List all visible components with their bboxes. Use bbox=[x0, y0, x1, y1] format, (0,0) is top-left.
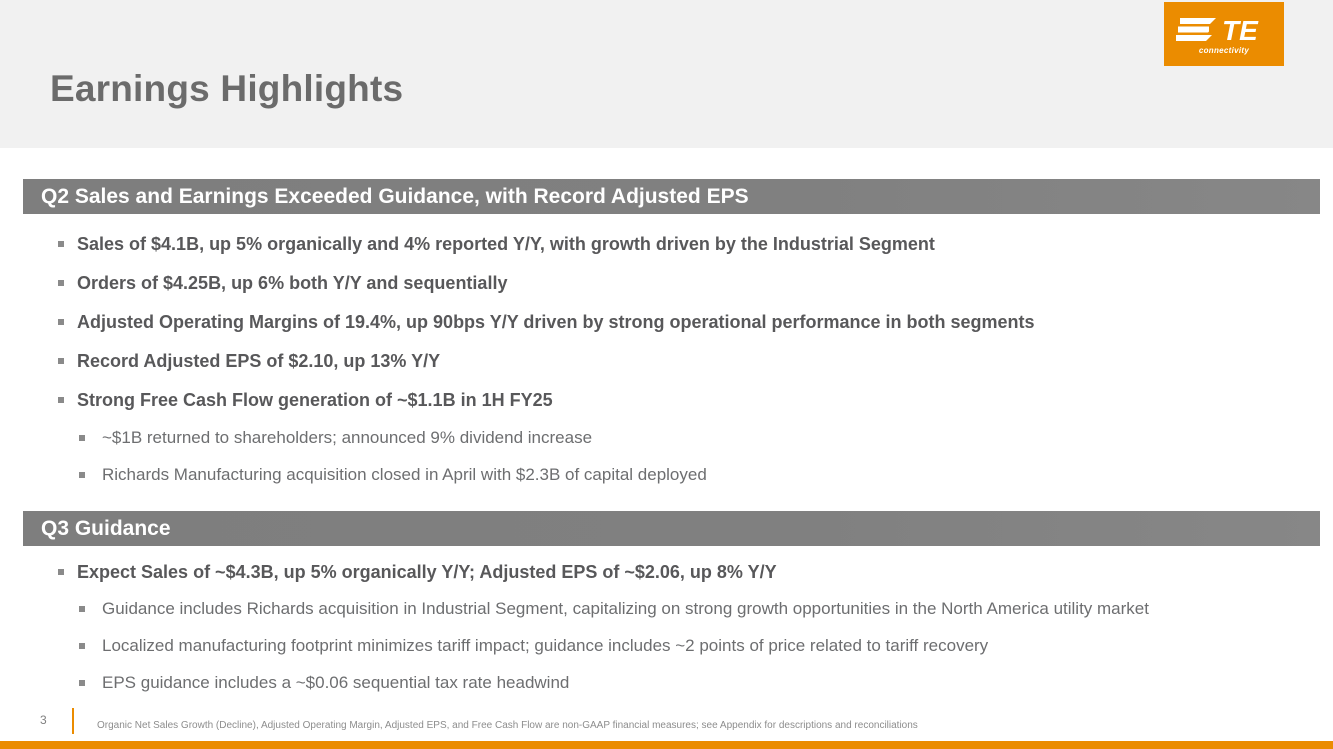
bottom-accent-bar bbox=[0, 741, 1333, 749]
sub-bullet-text: Localized manufacturing footprint minimi… bbox=[102, 635, 988, 657]
logo-tagline: connectivity bbox=[1164, 46, 1284, 55]
bullet-marker-icon bbox=[58, 280, 64, 286]
page-title: Earnings Highlights bbox=[50, 68, 403, 110]
bullet-text: Adjusted Operating Margins of 19.4%, up … bbox=[77, 310, 1035, 334]
bullet-marker-icon bbox=[79, 643, 85, 649]
bullet-marker-icon bbox=[58, 241, 64, 247]
bullet-text: Sales of $4.1B, up 5% organically and 4%… bbox=[77, 232, 935, 256]
svg-text:TE: TE bbox=[1222, 15, 1259, 45]
sub-bullet-item: EPS guidance includes a ~$0.06 sequentia… bbox=[79, 672, 569, 694]
section-header-q3: Q3 Guidance bbox=[23, 511, 1320, 546]
sub-bullet-item: Localized manufacturing footprint minimi… bbox=[79, 635, 988, 657]
bullet-marker-icon bbox=[79, 435, 85, 441]
bullet-item: Expect Sales of ~$4.3B, up 5% organicall… bbox=[58, 560, 777, 584]
bullet-item: Orders of $4.25B, up 6% both Y/Y and seq… bbox=[58, 271, 507, 295]
sub-bullet-text: Richards Manufacturing acquisition close… bbox=[102, 464, 707, 486]
bullet-text: Orders of $4.25B, up 6% both Y/Y and seq… bbox=[77, 271, 507, 295]
bullet-marker-icon bbox=[79, 472, 85, 478]
bullet-item: Record Adjusted EPS of $2.10, up 13% Y/Y bbox=[58, 349, 440, 373]
section-title-q2: Q2 Sales and Earnings Exceeded Guidance,… bbox=[41, 185, 749, 209]
bullet-text: Strong Free Cash Flow generation of ~$1.… bbox=[77, 388, 553, 412]
bullet-marker-icon bbox=[79, 606, 85, 612]
section-header-q2: Q2 Sales and Earnings Exceeded Guidance,… bbox=[23, 179, 1320, 214]
bullet-marker-icon bbox=[58, 569, 64, 575]
section-title-q3: Q3 Guidance bbox=[41, 517, 171, 541]
bullet-item: Strong Free Cash Flow generation of ~$1.… bbox=[58, 388, 553, 412]
footnote-non-gaap: Organic Net Sales Growth (Decline), Adju… bbox=[97, 720, 918, 731]
bullet-text: Expect Sales of ~$4.3B, up 5% organicall… bbox=[77, 560, 777, 584]
bullet-marker-icon bbox=[58, 397, 64, 403]
bullet-text: Record Adjusted EPS of $2.10, up 13% Y/Y bbox=[77, 349, 440, 373]
sub-bullet-text: Guidance includes Richards acquisition i… bbox=[102, 598, 1149, 620]
te-logo-mark-icon: TE bbox=[1176, 15, 1272, 45]
sub-bullet-item: ~$1B returned to shareholders; announced… bbox=[79, 427, 592, 449]
page-number: 3 bbox=[40, 713, 47, 727]
bullet-marker-icon bbox=[58, 319, 64, 325]
bullet-item: Sales of $4.1B, up 5% organically and 4%… bbox=[58, 232, 935, 256]
bullet-marker-icon bbox=[79, 680, 85, 686]
sub-bullet-text: EPS guidance includes a ~$0.06 sequentia… bbox=[102, 672, 569, 694]
footer-divider bbox=[72, 708, 74, 734]
sub-bullet-item: Guidance includes Richards acquisition i… bbox=[79, 598, 1149, 620]
bullet-marker-icon bbox=[58, 358, 64, 364]
bullet-item: Adjusted Operating Margins of 19.4%, up … bbox=[58, 310, 1035, 334]
sub-bullet-text: ~$1B returned to shareholders; announced… bbox=[102, 427, 592, 449]
te-connectivity-logo: TE connectivity bbox=[1164, 2, 1284, 66]
sub-bullet-item: Richards Manufacturing acquisition close… bbox=[79, 464, 707, 486]
